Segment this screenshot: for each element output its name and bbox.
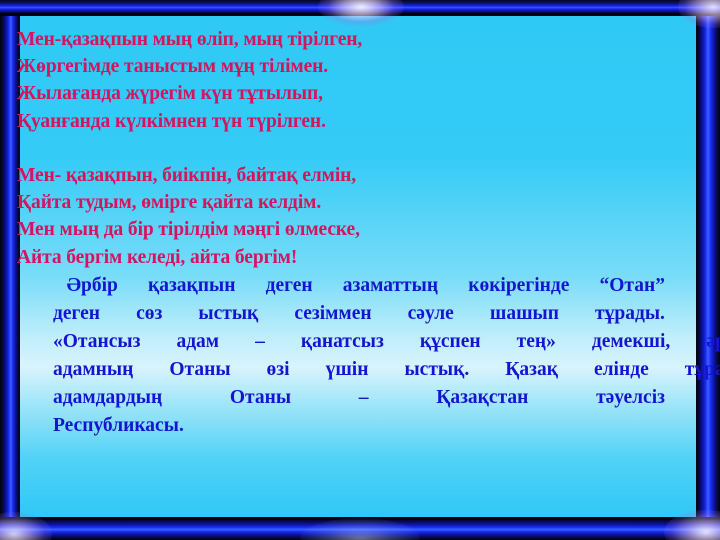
frame-band-top [0,0,720,15]
prose-word: құспен [384,328,481,356]
prose-word: Қазақ [469,356,558,384]
verse-line: Мен- қазақпын, биікпін, байтақ елмін, [17,162,665,189]
prose-word: Отаны [194,384,291,412]
verse-stanza-one: Мен-қазақпын мың өліп, мың тірілген, Жөр… [17,26,665,135]
prose-word: тұрады. [559,300,665,328]
prose-word: азаматтың [343,272,438,300]
prose-word: деген [17,300,100,328]
verse-line: Жылағанда жүрегім күн тұтылып, [17,80,665,107]
prose-line: адамдардың Отаны – Қазақстан тәуелсіз [17,384,665,412]
verse-line: Мен мың да бір тірілдім мәңгі өлмеске, [17,216,665,243]
verse-line: Қайта тудым, өмірге қайта келдім. [17,189,665,216]
prose-word: өзі [231,356,290,384]
prose-word: қанатсыз [265,328,384,356]
prose-word: “Отан” [599,272,664,300]
prose-word: сезіммен [258,300,371,328]
prose-word: Әрбір [67,272,118,300]
prose-word: тең» [481,328,556,356]
prose-word: адамның [17,356,133,384]
prose-word: әр [670,328,720,356]
prose-line: адамның Отаны өзі үшін ыстық. Қазақ елін… [17,356,665,384]
prose-indent [17,272,37,300]
slide: Мен-қазақпын мың өліп, мың тірілген, Жөр… [0,0,720,540]
prose-word: деген [266,272,313,300]
prose-line: Әрбір қазақпын деген азаматтың көкірегін… [17,272,665,300]
prose-word: тәуелсіз [560,384,665,412]
frame-band-bottom [0,518,720,540]
verse-line: Айта бергім келеді, айта бергім! [17,244,665,271]
prose-word: сөз [100,300,162,328]
prose-word: демекші, [556,328,670,356]
prose-word: тұратын [649,356,720,384]
verse-line: Қуанғанда күлкімнен түн түрілген. [17,108,665,135]
prose-word: – [219,328,265,356]
slide-text-body: Мен-қазақпын мың өліп, мың тірілген, Жөр… [17,26,665,440]
prose-line: Республикасы. [17,412,665,440]
prose-word: Отаны [133,356,230,384]
prose-word: үшін [290,356,369,384]
prose-word: адам [140,328,219,356]
prose-word: «Отансыз [17,328,140,356]
prose-word: адамдардың [17,384,162,412]
prose-line: деген сөз ыстық сезіммен сәуле шашып тұр… [17,300,665,328]
verse-line: Мен-қазақпын мың өліп, мың тірілген, [17,26,665,53]
prose-paragraph: Әрбір қазақпын деген азаматтың көкірегін… [17,272,665,440]
prose-word: қазақпын [148,272,236,300]
verse-line: Жөргегімде таныстым мұң тілімен. [17,53,665,80]
prose-word: ыстық [162,300,258,328]
prose-word: шашып [454,300,559,328]
prose-line: «Отансыз адам – қанатсыз құспен тең» дем… [17,328,665,356]
prose-word: – [323,384,369,412]
verse-stanza-two: Мен- қазақпын, биікпін, байтақ елмін, Қа… [17,162,665,271]
prose-word: көкірегінде [468,272,569,300]
prose-word: Қазақстан [400,384,528,412]
prose-word: елінде [558,356,649,384]
prose-word: ыстық. [368,356,469,384]
verse-stanza-separator [17,135,665,162]
frame-band-right [696,0,720,540]
frame-glow-bottom-center [300,518,420,540]
prose-word: сәуле [372,300,454,328]
